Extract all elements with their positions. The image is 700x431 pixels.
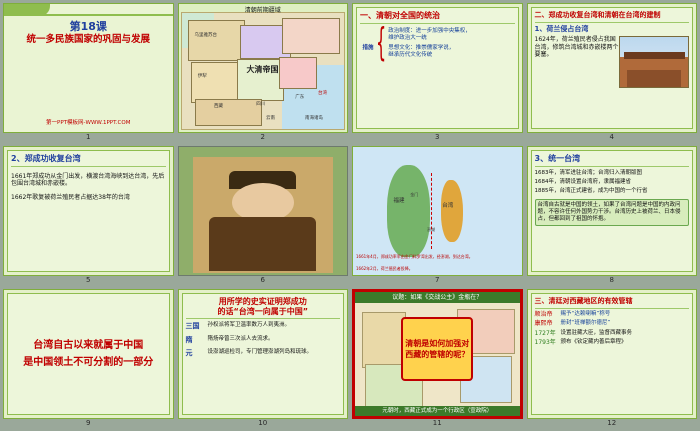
slide-cell-2: 清朝前期疆域 大清帝国 乌里雅苏台 伊犁 西藏 四川 云南 广东 台湾 南海诸岛 [178,3,349,142]
lesson-number: 第18课 [4,18,173,34]
map-label-penghu: 澎湖 [427,226,435,233]
divider-band [4,14,173,16]
slide-cell-1: 第18课 统一多民族国家的巩固与发展 第一PPT模板网-WWW.1PPT.COM… [3,3,174,142]
slide-5-title: 2、郑成功收复台湾 [11,154,166,164]
slide-12[interactable]: 三、清廷对西藏地区的有效管辖 顺治帝 赐予“达赖喇嘛”称号 康熙帝 册封“班禅额… [527,289,698,419]
map-label-3: 西藏 [214,103,223,109]
slide-12-row-2-text: 册封“班禅额尔德尼” [561,320,690,328]
slide-10[interactable]: 用所学的史实证明郑成功 的话“台湾一向属于中国” 三国 孙权派将军卫温率数万人到… [178,289,349,419]
slide-5-item-2: 1662年歌复被荷兰殖民者占据达38年的台湾 [11,194,166,202]
slide-12-row-1-label: 顺治帝 [535,311,561,319]
slide-9[interactable]: 台湾自古以来就属于中国 是中国领土不可分割的一部分 [3,289,174,419]
map-label-5: 云南 [266,115,275,121]
brace-label: 措施 [362,45,373,51]
measure-item-3: 思想文化：推崇儒家学说， [388,45,514,52]
slide-cell-4: 二、郑成功收复台湾和清朝在台湾的建制 1、荷兰侵占台湾 1624年，荷兰殖民者侵… [527,3,698,142]
slide-12-title: 三、清廷对西藏地区的有效管辖 [535,297,690,306]
slide-5-body: 2、郑成功收复台湾 1661年郑成功从金门出发，横渡台湾海峡到达台湾，先后包围台… [7,150,170,272]
map-area-xinjiang [362,312,407,369]
map-label-jinmen: 金门 [410,191,418,198]
slide-8-body: 3、统一台湾 1683年，清军进驻台湾；台湾归入清朝版图 1684年，清朝设置台… [531,150,694,272]
qing-dynasty-map: 大清帝国 乌里雅苏台 伊犁 西藏 四川 云南 广东 台湾 南海诸岛 [181,12,346,130]
map-region-e [279,57,317,89]
map-note-1: 1661年4月，郑成功率军由金门料罗湾出发，经澎湖，到达台湾。 [356,254,473,259]
slide-9-line-2: 是中国领土不可分割的一部分 [23,354,153,371]
slide-number-8: 8 [527,276,698,285]
map-label-empire: 大清帝国 [247,64,279,75]
slide-3[interactable]: 一、清朝对全国的统治 措施 { 政治制度：进一步加强中央集权， 维护政治大一统 … [352,3,523,133]
slide-4-subtitle: 1、荷兰侵占台湾 [535,25,690,34]
divider [535,166,690,167]
slide-cell-8: 3、统一台湾 1683年，清军进驻台湾；台湾归入清朝版图 1684年，清朝设置台… [527,146,698,285]
slide-footer: 第一PPT模板网-WWW.1PPT.COM [4,118,173,126]
slide-12-body: 三、清廷对西藏地区的有效管辖 顺治帝 赐予“达赖喇嘛”称号 康熙帝 册封“班禅额… [531,293,694,415]
map-label-fujian: 福建 [393,198,404,205]
map-label-taiwan: 台湾 [442,203,453,210]
divider [535,22,690,23]
map-label-2: 伊犁 [198,73,207,79]
divider [11,166,166,167]
slide-11-question: 清朝是如何加强对西藏的管辖的呢？ [401,317,473,381]
measure-item-1: 政治制度：进一步加强中央集权， [388,28,514,35]
slide-8-item-3: 1885年，台湾正式建省，成为中国的一个行省 [535,188,690,195]
slide-10-row-3-text: 设澎湖巡检司，专门管理澎湖列岛和琉球。 [208,349,341,358]
slide-4[interactable]: 二、郑成功收复台湾和清朝在台湾的建制 1、荷兰侵占台湾 1624年，荷兰殖民者侵… [527,3,698,133]
map-region-sw [195,99,262,127]
slide-number-3: 3 [352,133,523,142]
measure-item-4: 继承历代文化传统 [388,52,514,59]
measure-item-2: 维护政治大一统 [388,35,514,42]
slide-4-body: 二、郑成功收复台湾和清朝在台湾的建制 1、荷兰侵占台湾 1624年，荷兰殖民者侵… [531,7,694,129]
slide-10-title-1: 用所学的史实证明郑成功 [186,297,341,307]
slide-cell-5: 2、郑成功收复台湾 1661年郑成功从金门出发，横渡台湾海峡到达台湾，先后包围台… [3,146,174,285]
slide-8-note: 台湾自古就是中国的领土，如果了台湾问题是中国的内政问题，不容许任何外国势力干涉。… [535,199,690,226]
slide-10-row-3-label: 元 [186,349,208,358]
slide-number-6: 6 [178,276,349,285]
slide-12-row-2-label: 康熙帝 [535,320,561,328]
slide-cell-10: 用所学的史实证明郑成功 的话“台湾一向属于中国” 三国 孙权派将军卫温率数万人到… [178,289,349,428]
divider [535,308,690,309]
slide-number-1: 1 [3,133,174,142]
slide-grid: 第18课 统一多民族国家的巩固与发展 第一PPT模板网-WWW.1PPT.COM… [0,0,700,431]
slide-title: 统一多民族国家的巩固与发展 [4,34,173,46]
slide-number-5: 5 [3,276,174,285]
map-taiwan-island [441,180,463,241]
slide-cell-12: 三、清廷对西藏地区的有效管辖 顺治帝 赐予“达赖喇嘛”称号 康熙帝 册封“班禅额… [527,289,698,428]
slide-9-line-1: 台湾自古以来就属于中国 [33,337,143,354]
slide-11-botbar: 元朝时，西藏正式成为一个行政区（宣政院） [355,406,520,416]
slide-8[interactable]: 3、统一台湾 1683年，清军进驻台湾；台湾归入清朝版图 1684年，清朝设置台… [527,146,698,276]
map-title: 清朝前期疆域 [179,5,348,14]
map-region-w [191,62,242,103]
slide-8-item-2: 1684年，清朝设置台湾府，隶属福建省 [535,179,690,186]
divider [186,318,341,319]
map-region-nw [188,20,245,61]
slide-5-item-1: 1661年郑成功从金门出发，横渡台湾海峡到达台湾，先后包围台湾城和赤嵌楼。 [11,173,166,188]
slide-9-body: 台湾自古以来就属于中国 是中国领土不可分割的一部分 [7,293,170,415]
taiwan-strait-map: 福建 台湾 澎湖 金门 1661年4月，郑成功率军由金门料罗湾出发，经澎湖，到达… [353,147,522,275]
slide-number-7: 7 [352,276,523,285]
slide-10-title-2: 的话“台湾一向属于中国” [186,307,341,317]
map-label-4: 四川 [256,101,265,107]
slide-cell-9: 台湾自古以来就属于中国 是中国领土不可分割的一部分 9 [3,289,174,428]
slide-12-row-4-text: 颁布《钦定藏内善后章程》 [561,339,690,347]
slide-cell-11: 议题：如果《交战公主》金瓶在？ 清朝是如何加强对西藏的管辖的呢？ 元朝时，西藏正… [352,289,523,428]
slide-number-10: 10 [178,419,349,428]
slide-7[interactable]: 福建 台湾 澎湖 金门 1661年4月，郑成功率军由金门料罗湾出发，经澎湖，到达… [352,146,523,276]
slide-10-row-1-text: 孙权派将军卫温率数万人到夷洲。 [208,322,341,331]
slide-4-title: 二、郑成功收复台湾和清朝在台湾的建制 [535,11,690,20]
map-label-6: 广东 [295,94,304,100]
chikan-tower-photo [619,36,689,88]
map-note-2: 1662年2月，荷兰殖民者投降。 [356,266,413,271]
map-fujian-landmass [387,165,431,257]
slide-cell-3: 一、清朝对全国的统治 措施 { 政治制度：进一步加强中央集权， 维护政治大一统 … [352,3,523,142]
slide-12-row-1-text: 赐予“达赖喇嘛”称号 [561,311,690,319]
slide-11[interactable]: 议题：如果《交战公主》金瓶在？ 清朝是如何加强对西藏的管辖的呢？ 元朝时，西藏正… [352,289,523,419]
portrait-robe [209,217,316,270]
slide-number-4: 4 [527,133,698,142]
slide-10-row-1-label: 三国 [186,322,208,331]
zheng-chenggong-portrait [193,157,334,273]
slide-5[interactable]: 2、郑成功收复台湾 1661年郑成功从金门出发，横渡台湾海峡到达台湾，先后包围台… [3,146,174,276]
slide-3-body: 一、清朝对全国的统治 措施 { 政治制度：进一步加强中央集权， 维护政治大一统 … [356,7,519,129]
map-label-1: 乌里雅苏台 [195,32,218,38]
map-label-taiwan: 台湾 [318,90,327,96]
slide-11-topbar: 议题：如果《交战公主》金瓶在？ [355,292,520,303]
slide-6[interactable]: 郑成功收复台湾 [178,146,349,276]
photo-base [627,70,681,88]
slide-1[interactable]: 第18课 统一多民族国家的巩固与发展 第一PPT模板网-WWW.1PPT.COM [3,3,174,133]
slide-12-row-3-label: 1727年 [535,330,561,338]
slide-8-item-1: 1683年，清军进驻台湾；台湾归入清朝版图 [535,170,690,177]
slide-cell-6: 郑成功收复台湾 6 [178,146,349,285]
portrait-face [232,183,294,222]
map-region-ne [282,18,339,55]
slide-number-11: 11 [352,419,523,428]
slide-cell-7: 福建 台湾 澎湖 金门 1661年4月，郑成功率军由金门料罗湾出发，经澎湖，到达… [352,146,523,285]
map-label-7: 南海诸岛 [305,115,323,121]
slide-number-9: 9 [3,419,174,428]
map-route-line [431,173,432,250]
slide-10-row-2-text: 隋炀帝曾三次派人去流求。 [208,336,341,345]
photo-roof [624,52,685,59]
slide-10-row-2-label: 隋 [186,336,208,345]
slide-2[interactable]: 清朝前期疆域 大清帝国 乌里雅苏台 伊犁 西藏 四川 云南 广东 台湾 南海诸岛 [178,3,349,133]
slide-12-row-4-label: 1793年 [535,339,561,347]
slide-number-2: 2 [178,133,349,142]
slide-10-body: 用所学的史实证明郑成功 的话“台湾一向属于中国” 三国 孙权派将军卫温率数万人到… [182,293,345,415]
slide-8-title: 3、统一台湾 [535,154,690,164]
brace-icon: { [376,31,386,55]
slide-4-text: 1624年，荷兰殖民者侵占我国台湾，修筑台湾城和赤嵌楼两个要塞。 [535,36,620,88]
slide-12-row-3-text: 设置驻藏大臣，监督西藏事务 [561,330,690,338]
slide-number-12: 12 [527,419,698,428]
